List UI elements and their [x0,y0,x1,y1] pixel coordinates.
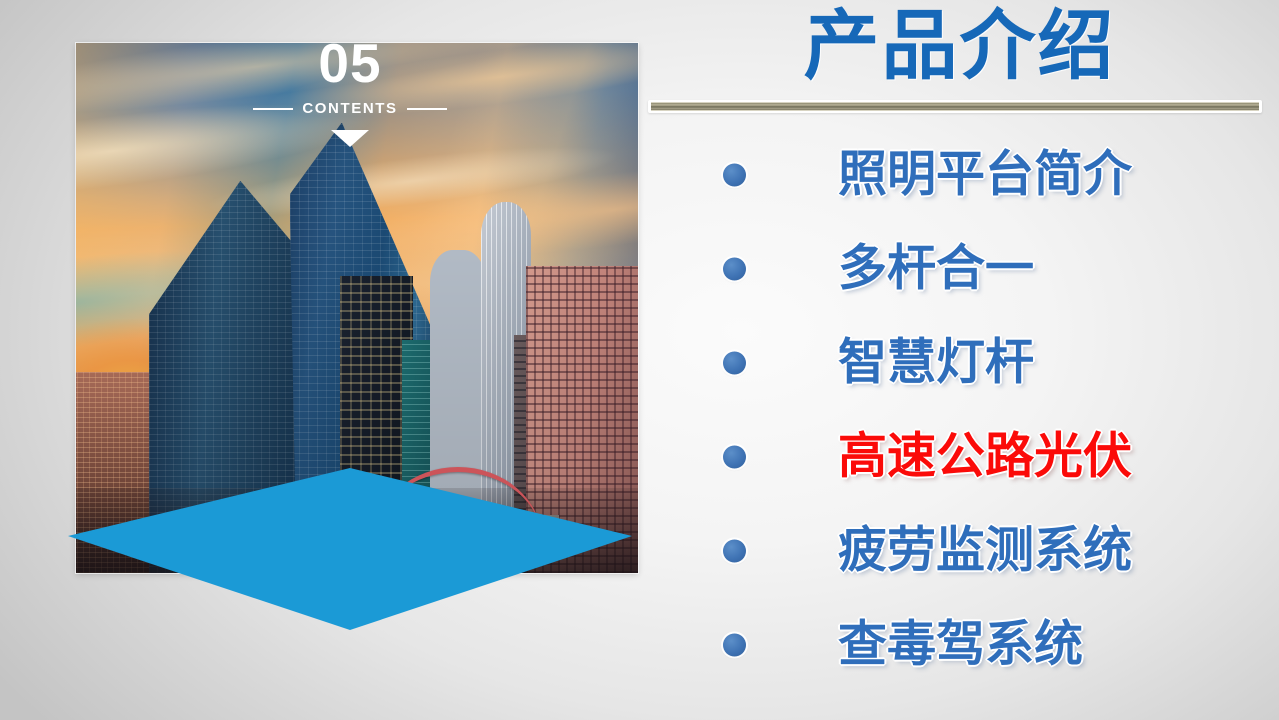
page-title: 产品介绍 [640,6,1279,88]
contents-item-3[interactable]: 智慧灯杆 [660,316,1260,410]
bullet-icon [723,352,746,375]
bullet-icon [723,164,746,187]
presentation-slide: 05 CONTENTS 产品介绍 照明平台简介 多杆合一 智慧灯杆 高速公路光伏 [0,0,1279,720]
badge-number: 05 [68,36,632,91]
bullet-icon [723,258,746,281]
badge-dash-left [253,108,293,110]
bullet-icon [723,634,746,657]
contents-item-label: 高速公路光伏 [838,433,1132,482]
triangle-down-icon [331,130,369,147]
badge-label-row: CONTENTS [68,100,632,117]
contents-item-label: 照明平台简介 [838,151,1132,200]
bullet-icon [723,446,746,469]
contents-item-5[interactable]: 疲劳监测系统 [660,504,1260,598]
contents-item-4[interactable]: 高速公路光伏 [660,410,1260,504]
contents-list: 照明平台简介 多杆合一 智慧灯杆 高速公路光伏 疲劳监测系统 查毒驾系统 [660,128,1260,692]
contents-item-label: 疲劳监测系统 [838,527,1132,576]
title-divider [648,100,1262,113]
contents-item-label: 多杆合一 [838,245,1034,294]
bullet-icon [723,540,746,563]
contents-item-label: 查毒驾系统 [838,621,1083,670]
contents-item-label: 智慧灯杆 [838,339,1034,388]
badge-dash-right [407,108,447,110]
divider-bar [651,102,1259,111]
badge-label: CONTENTS [302,100,397,117]
contents-item-6[interactable]: 查毒驾系统 [660,598,1260,692]
contents-item-2[interactable]: 多杆合一 [660,222,1260,316]
contents-item-1[interactable]: 照明平台简介 [660,128,1260,222]
